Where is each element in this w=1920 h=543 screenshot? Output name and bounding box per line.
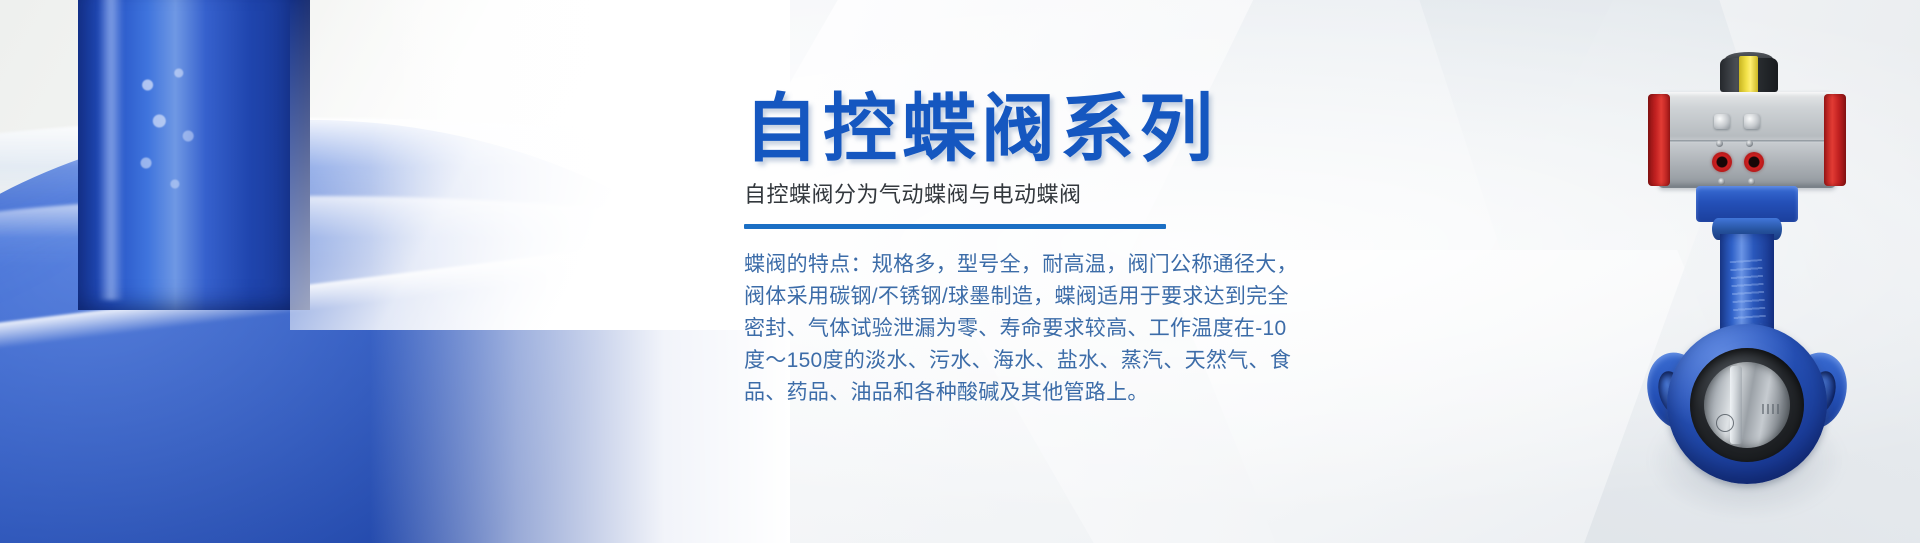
valve-disc-highlight xyxy=(1730,366,1742,444)
banner-text-block: 自控蝶阀系列 自控蝶阀分为气动蝶阀与电动蝶阀 蝶阀的特点：规格多，型号全，耐高温… xyxy=(744,92,1304,409)
photo-fade-right xyxy=(370,0,790,543)
actuator-end-cap-left xyxy=(1648,94,1670,186)
valve-neck-texture xyxy=(132,58,210,208)
valve-neck-highlight xyxy=(98,0,124,300)
mounting-bracket xyxy=(1696,186,1798,222)
description-line: 阀体采用碳钢/不锈钢/球墨制造，蝶阀适用于要求达到完全 xyxy=(744,281,1214,313)
product-banner: 自控蝶阀系列 自控蝶阀分为气动蝶阀与电动蝶阀 蝶阀的特点：规格多，型号全，耐高温… xyxy=(0,0,1920,543)
actuator-screw xyxy=(1718,178,1725,185)
left-valve-photo xyxy=(0,0,790,543)
banner-subtitle: 自控蝶阀分为气动蝶阀与电动蝶阀 xyxy=(744,182,1304,208)
divider xyxy=(744,224,1166,229)
actuator-bolt xyxy=(1744,114,1760,129)
description-line: 度～150度的淡水、污水、海水、盐水、蒸汽、天然气、食 xyxy=(744,345,1214,377)
actuator-bolt xyxy=(1714,114,1730,129)
actuator-screw xyxy=(1748,178,1755,185)
actuator-air-port xyxy=(1744,152,1764,172)
actuator-screw xyxy=(1746,140,1753,147)
banner-description: 蝶阀的特点：规格多，型号全，耐高温，阀门公称通径大， 阀体采用碳钢/不锈钢/球墨… xyxy=(744,249,1214,409)
valve-disc-marking xyxy=(1716,414,1734,432)
butterfly-valve xyxy=(1654,318,1840,504)
valve-disc-marking xyxy=(1762,404,1780,414)
description-line: 密封、气体试验泄漏为零、寿命要求较高、工作温度在-10 xyxy=(744,313,1214,345)
page-title: 自控蝶阀系列 xyxy=(744,92,1304,166)
actuator-screw xyxy=(1716,140,1723,147)
description-line: 品、药品、油品和各种酸碱及其他管路上。 xyxy=(744,377,1214,409)
description-line: 蝶阀的特点：规格多，型号全，耐高温，阀门公称通径大， xyxy=(744,249,1214,281)
actuator-position-indicator xyxy=(1739,56,1758,94)
valve-stem-embossing xyxy=(1730,259,1766,325)
right-product-image xyxy=(1620,48,1870,518)
actuator-air-port xyxy=(1712,152,1732,172)
actuator-end-cap-right xyxy=(1824,94,1846,186)
